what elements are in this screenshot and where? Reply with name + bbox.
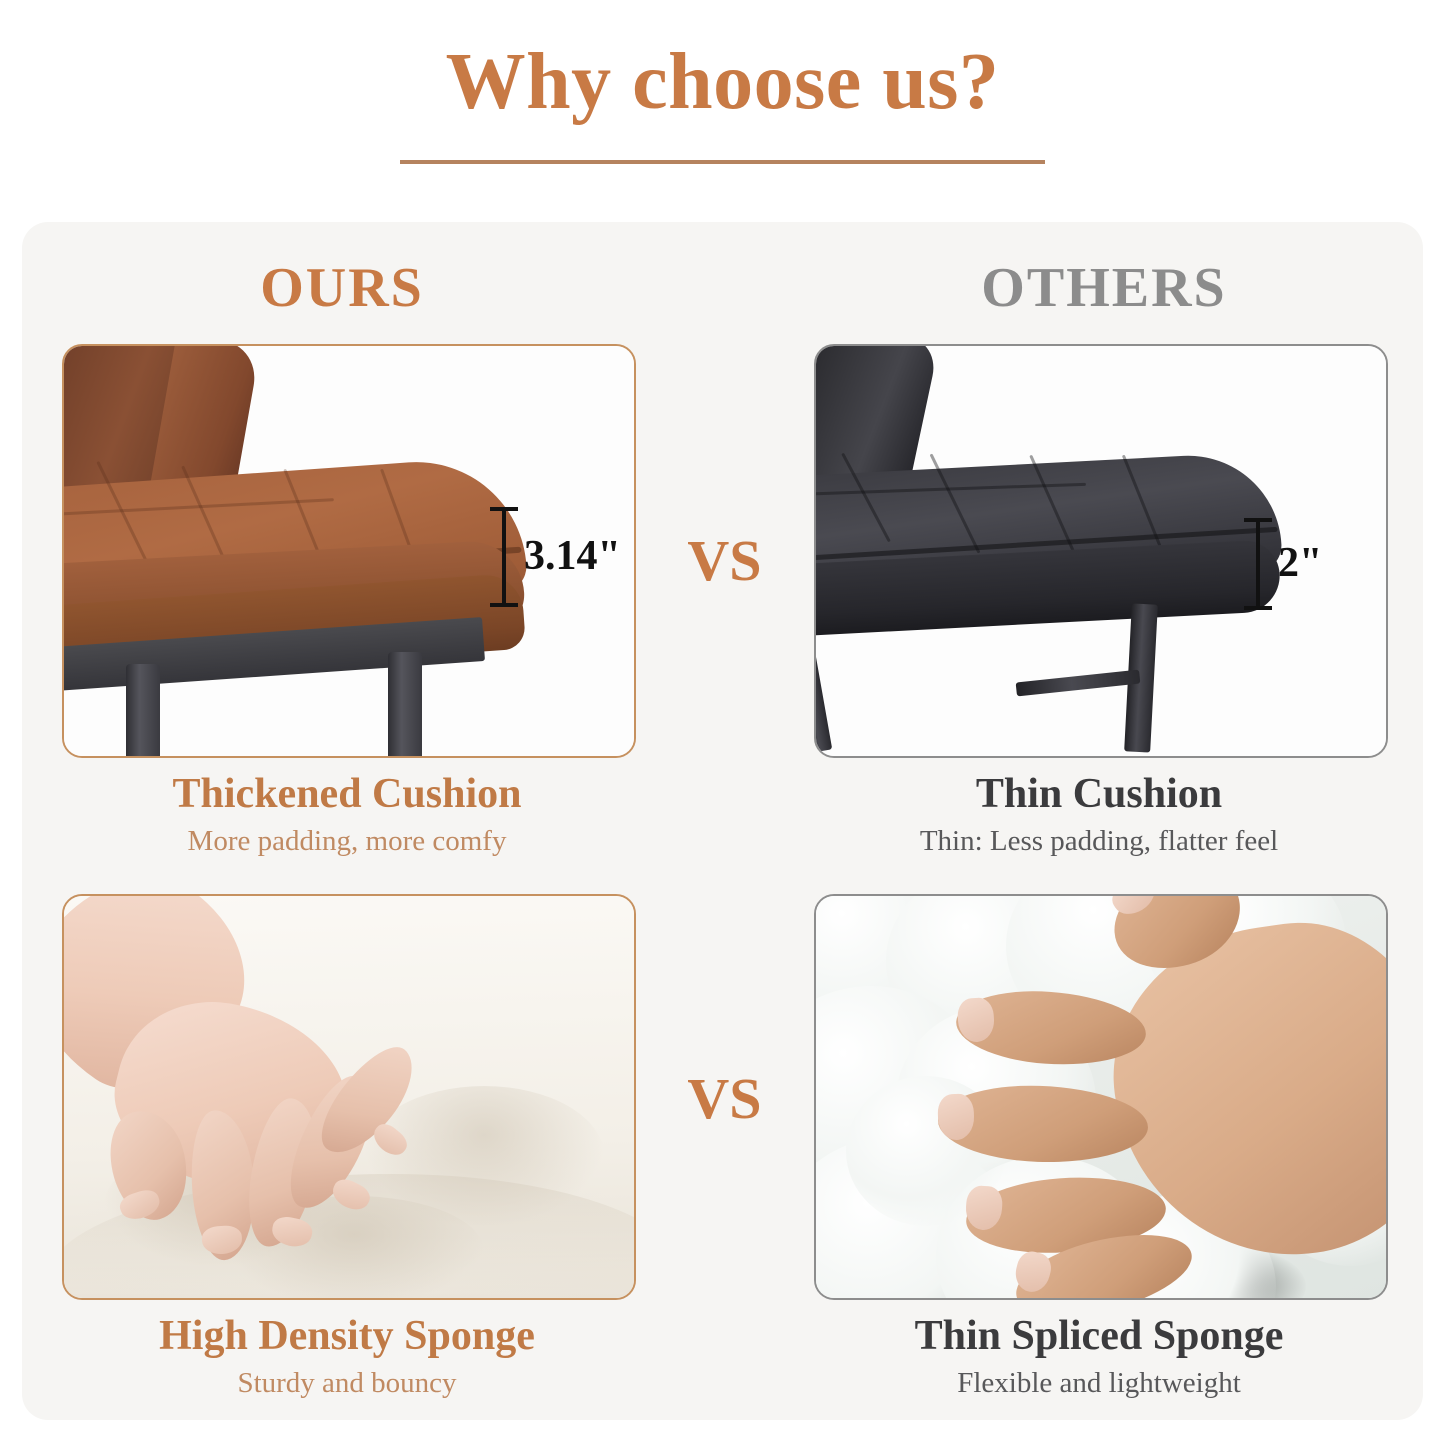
fiberfill-photo bbox=[816, 896, 1386, 1298]
caption-title: Thin Cushion bbox=[814, 770, 1384, 818]
image-panel-others-sponge bbox=[814, 894, 1388, 1300]
dimension-label-ours: 3.14" bbox=[524, 535, 621, 577]
high-density-foam-photo bbox=[64, 896, 634, 1298]
column-header-ours: OURS bbox=[22, 260, 662, 316]
vs-label-top: VS bbox=[662, 532, 787, 590]
caption-subtitle: Thin: Less padding, flatter feel bbox=[814, 822, 1384, 861]
page-title: Why choose us? bbox=[0, 42, 1445, 122]
image-panel-ours-sponge bbox=[62, 894, 636, 1300]
caption-title: Thin Spliced Sponge bbox=[814, 1312, 1384, 1360]
caption-subtitle: Flexible and lightweight bbox=[814, 1364, 1384, 1403]
column-header-others: OTHERS bbox=[784, 260, 1424, 316]
vs-label-bottom: VS bbox=[662, 1070, 787, 1128]
caption-subtitle: More padding, more comfy bbox=[62, 822, 632, 861]
caption-title: Thickened Cushion bbox=[62, 770, 632, 818]
caption-ours-sponge: High Density Sponge Sturdy and bouncy bbox=[62, 1312, 632, 1403]
caption-others-sponge: Thin Spliced Sponge Flexible and lightwe… bbox=[814, 1312, 1384, 1403]
comparison-card: OURS OTHERS VS VS 3.14" Thick bbox=[22, 222, 1423, 1420]
caption-ours-cushion: Thickened Cushion More padding, more com… bbox=[62, 770, 632, 861]
caption-others-cushion: Thin Cushion Thin: Less padding, flatter… bbox=[814, 770, 1384, 861]
dimension-label-others: 2" bbox=[1278, 542, 1322, 584]
caption-title: High Density Sponge bbox=[62, 1312, 632, 1360]
title-divider bbox=[400, 160, 1045, 164]
caption-subtitle: Sturdy and bouncy bbox=[62, 1364, 632, 1403]
